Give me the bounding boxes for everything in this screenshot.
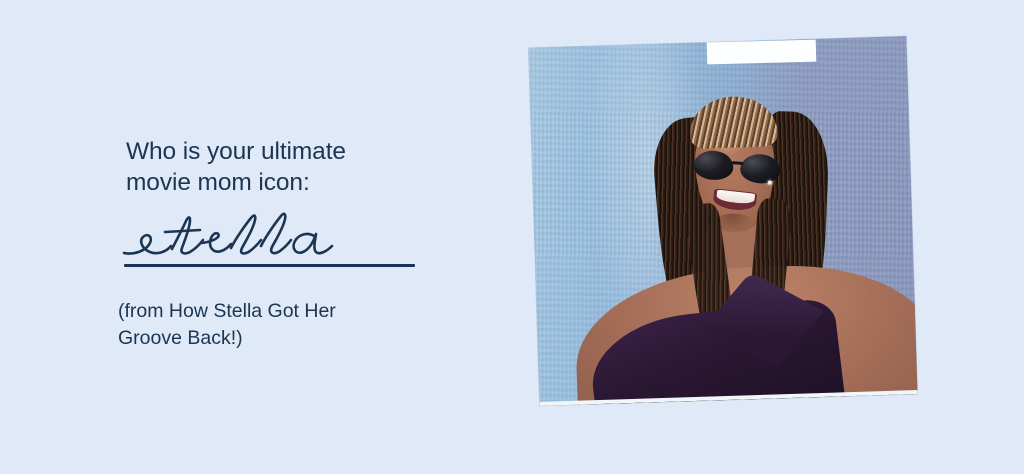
answer-underline	[124, 264, 415, 267]
answer-field[interactable]: stella	[118, 208, 448, 272]
sunglass-lens-right	[739, 153, 781, 185]
teeth	[715, 190, 754, 205]
photo-inner	[528, 36, 917, 406]
earring	[768, 180, 772, 184]
photo-subject	[528, 36, 917, 406]
headline-question: Who is your ultimate movie mom icon:	[118, 136, 448, 198]
poster-canvas: Who is your ultimate movie mom icon:	[0, 0, 1024, 474]
source-note: (from How Stella Got Her Groove Back!)	[118, 272, 448, 352]
sunglass-lens-left	[692, 150, 734, 182]
prompt-text-block: Who is your ultimate movie mom icon:	[118, 136, 448, 352]
celebrity-photo	[528, 36, 917, 406]
handwritten-answer-icon	[118, 208, 418, 264]
tape-strip-icon	[707, 40, 817, 65]
